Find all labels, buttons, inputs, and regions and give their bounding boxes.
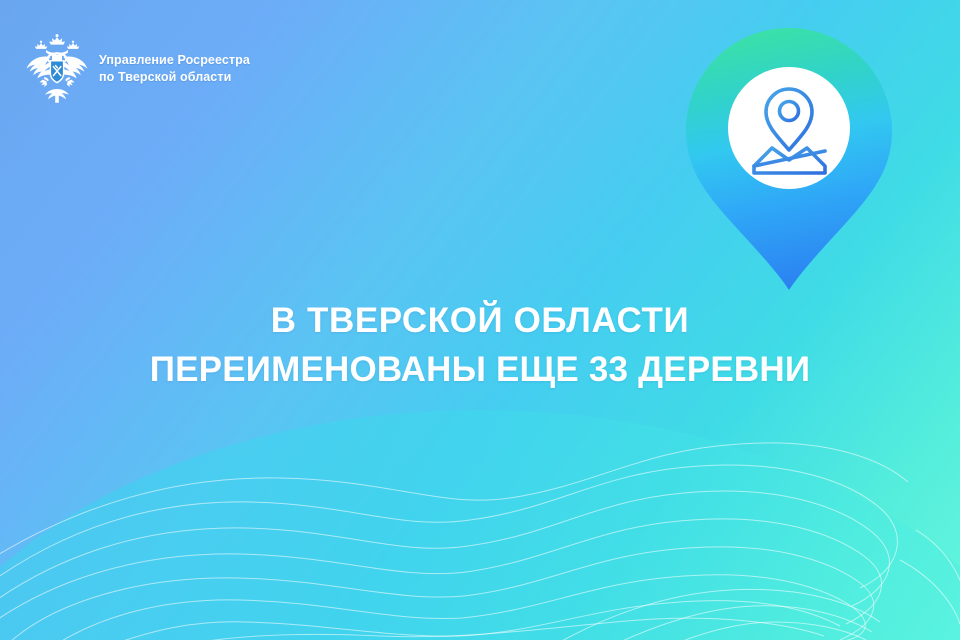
headline: В ТВЕРСКОЙ ОБЛАСТИ ПЕРЕИМЕНОВАНЫ ЕЩЕ 33 … xyxy=(0,296,960,394)
double-headed-eagle-icon xyxy=(24,33,90,105)
pin-inner-circle xyxy=(728,67,850,189)
logo-line-1: Управление Росреестра xyxy=(99,52,250,69)
ellipse-overlay-shape xyxy=(0,410,960,640)
map-location-pin-graphic xyxy=(686,28,892,290)
rosreestr-logo: Управление Росреестра по Тверской област… xyxy=(24,33,250,105)
news-banner: Управление Росреестра по Тверской област… xyxy=(0,0,960,640)
topographic-contour-decoration xyxy=(0,380,960,640)
headline-line-2: ПЕРЕИМЕНОВАНЫ ЕЩЕ 33 ДЕРЕВНИ xyxy=(0,345,960,394)
logo-organization-name: Управление Росреестра по Тверской област… xyxy=(99,52,250,85)
headline-line-1: В ТВЕРСКОЙ ОБЛАСТИ xyxy=(0,296,960,345)
logo-line-2: по Тверской области xyxy=(99,69,250,86)
